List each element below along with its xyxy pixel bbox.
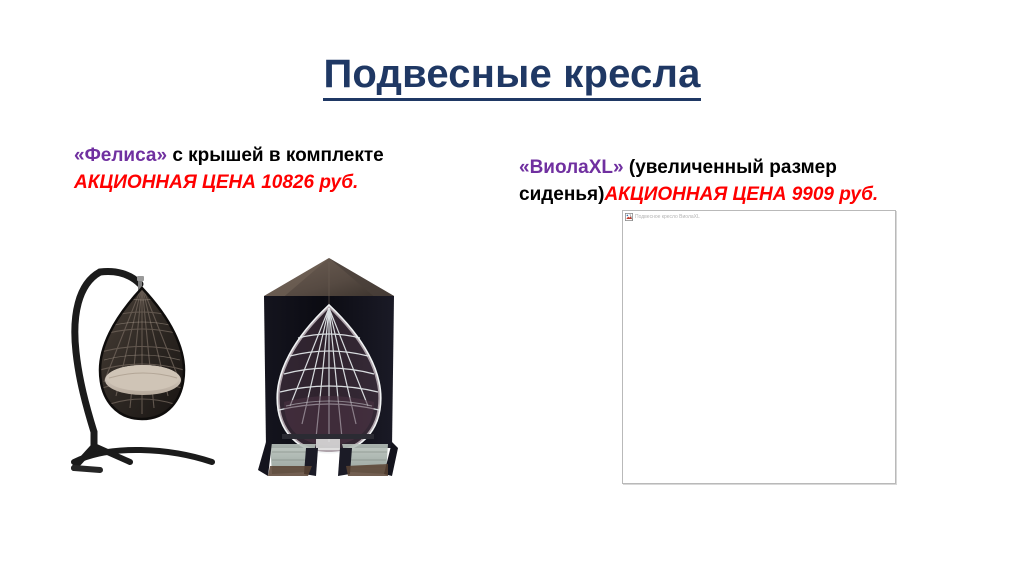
product-caption-felisa: «Фелиса» с крышей в комплекте АКЦИОННАЯ … — [74, 143, 504, 197]
product-description-violaxl: (увеличенный размер — [624, 157, 837, 178]
product-photo-hanging-chair — [60, 256, 224, 480]
product-description-violaxl-line2: сиденья) — [519, 184, 604, 205]
product-photo-chair-cover — [246, 252, 412, 478]
product-name-felisa: «Фелиса» — [74, 145, 167, 166]
product-price-violaxl: АКЦИОННАЯ ЦЕНА 9909 руб. — [604, 184, 878, 205]
broken-image-icon — [625, 213, 633, 221]
slide-canvas: Подвесные кресла «Фелиса» с крышей в ком… — [0, 0, 1024, 574]
product-description-felisa: с крышей в комплекте — [167, 145, 384, 166]
page-title-text: Подвесные кресла — [323, 52, 700, 101]
broken-image-indicator: Подвесное кресло ВиолаXL — [625, 212, 700, 221]
product-price-felisa: АКЦИОННАЯ ЦЕНА 10826 руб. — [74, 170, 504, 197]
product-caption-violaxl: «ВиолаXL» (увеличенный размерсиденья)АКЦ… — [519, 155, 949, 209]
image-placeholder-violaxl: Подвесное кресло ВиолаXL — [622, 210, 896, 484]
image-alt-text: Подвесное кресло ВиолаXL — [635, 213, 700, 221]
page-title: Подвесные кресла — [0, 52, 1024, 101]
product-name-violaxl: «ВиолаXL» — [519, 157, 624, 178]
